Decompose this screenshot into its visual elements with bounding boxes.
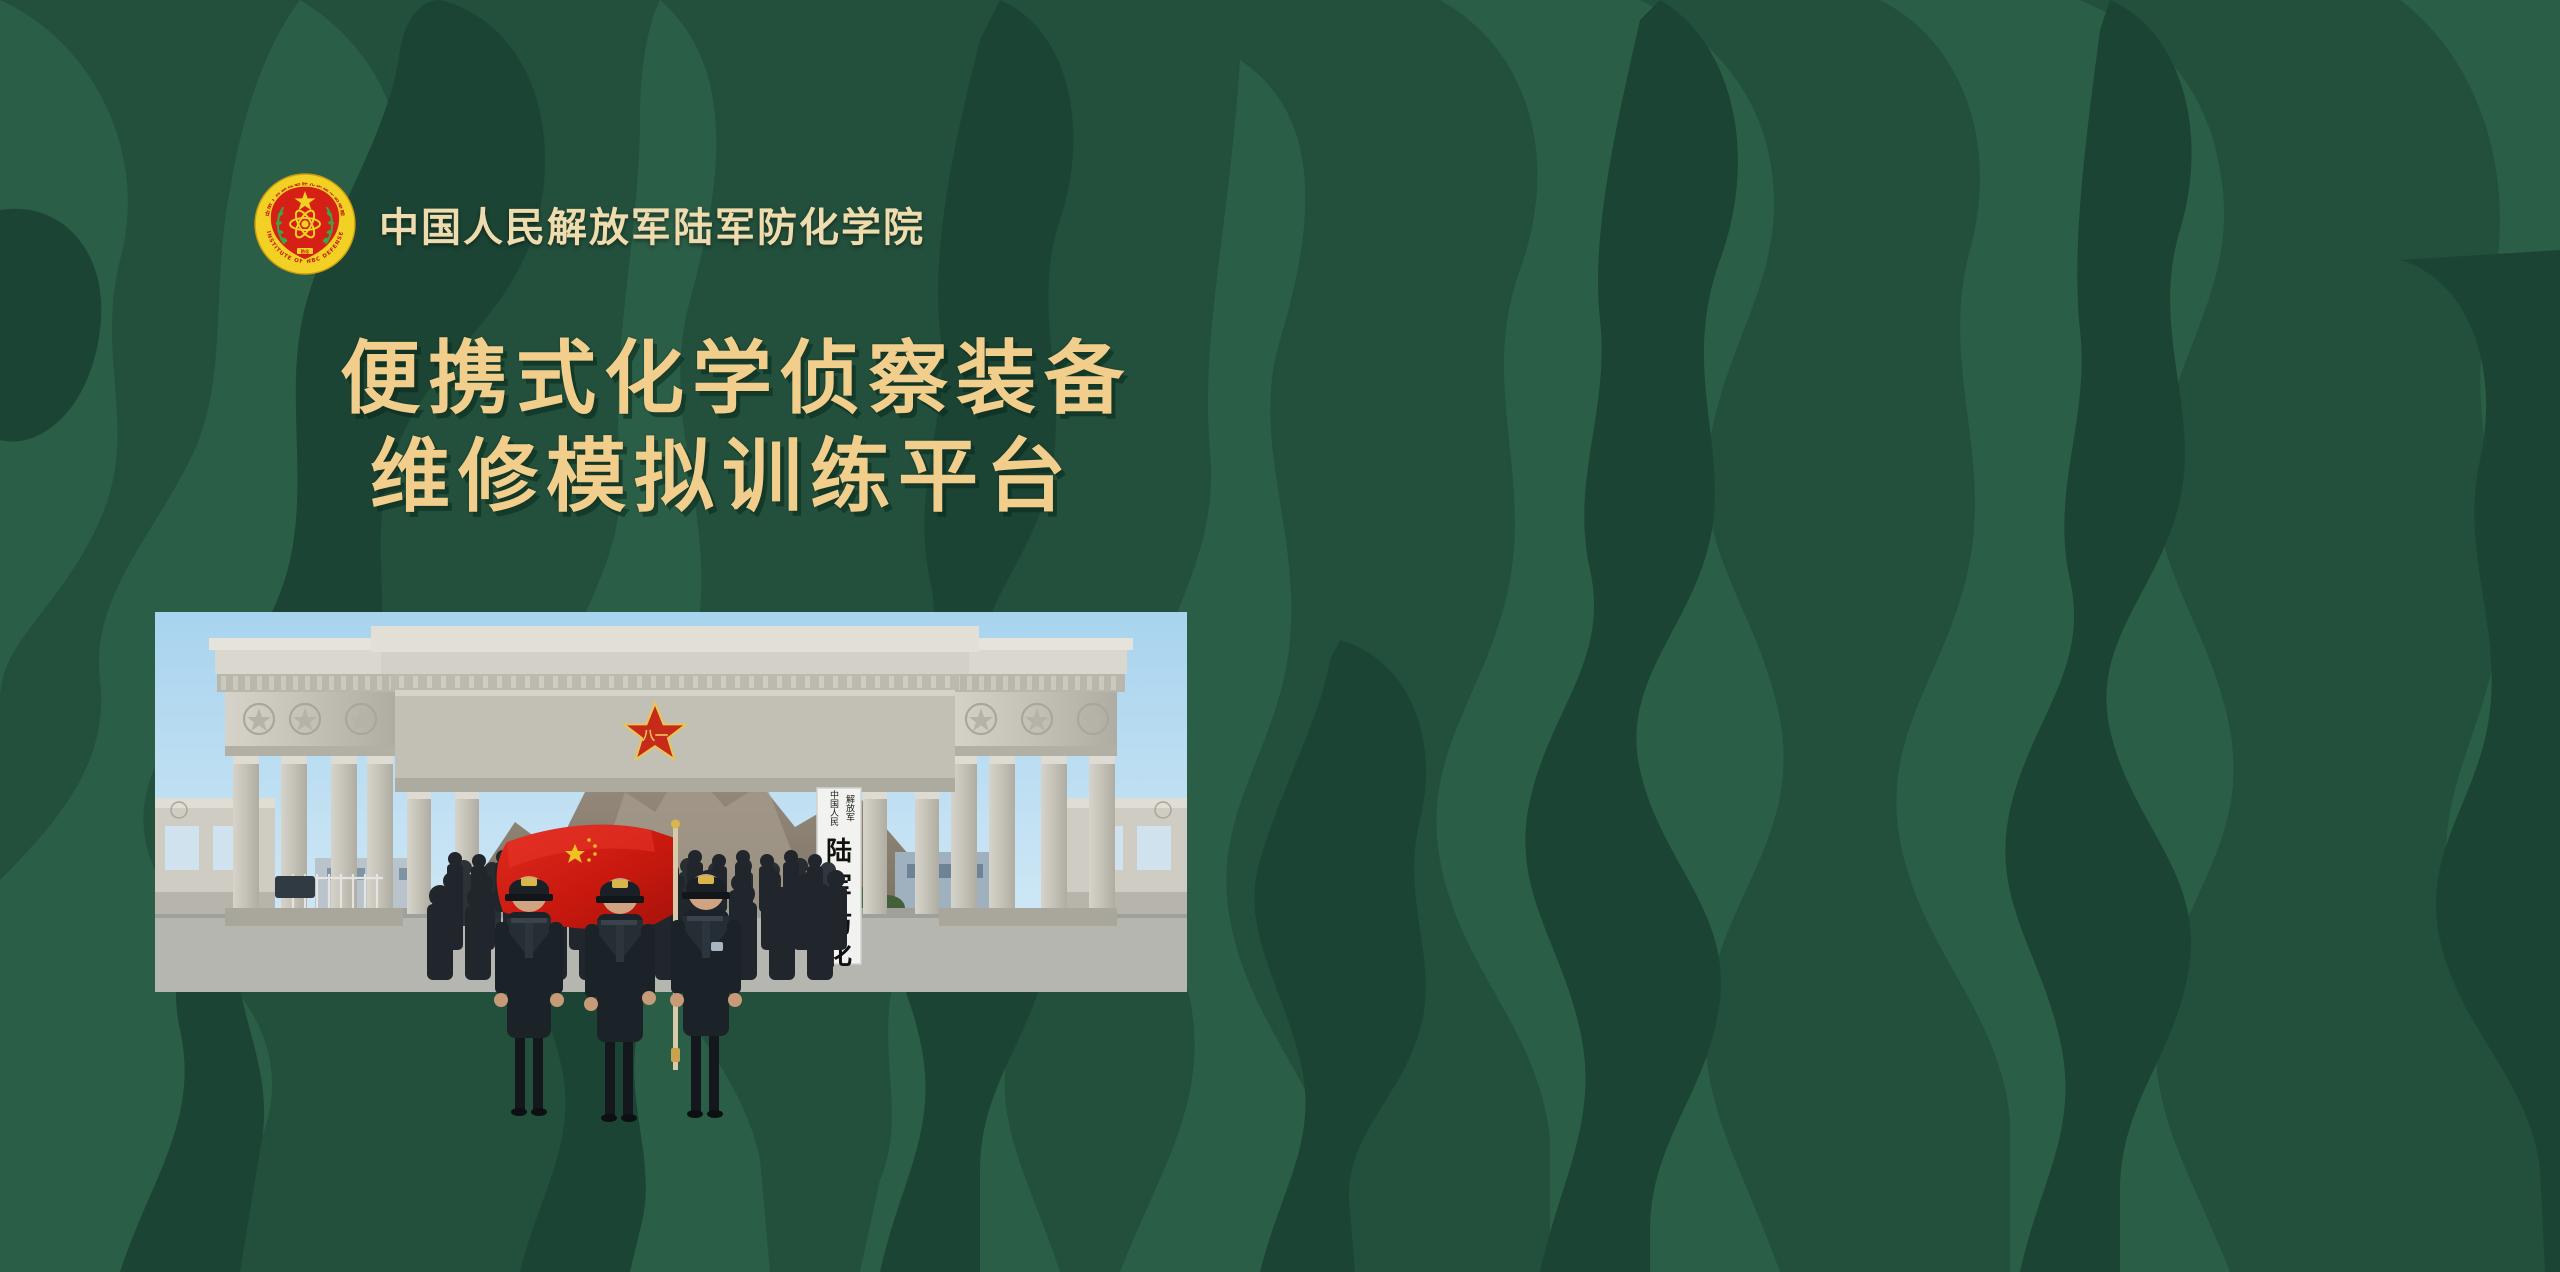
academy-gate-illustration: 八一 中国人民 解放军 [155, 612, 1187, 1172]
sign-small-line-2: 解放军 [844, 793, 855, 822]
parked-vehicle [275, 876, 315, 898]
academy-gate-photo: 八一 中国人民 解放军 [155, 612, 1187, 1172]
institution-name-text: 中国人民解放军陆军防化学院 [379, 195, 925, 253]
soldier-formation-front [494, 874, 742, 1122]
platform-title-line-1: 便携式化学侦察装备 [340, 330, 1132, 428]
platform-title-line-2: 维修模拟训练平台 [340, 428, 1132, 526]
platform-title: 便携式化学侦察装备 维修模拟训练平台 [340, 330, 1132, 525]
gate-central-entablature: 八一 [371, 626, 979, 792]
institute-emblem-icon: 中国人民解放军防化指挥工程学院 INSTITUTE OF NBC DEFENSE [253, 172, 357, 276]
brand-header: 中国人民解放军防化指挥工程学院 INSTITUTE OF NBC DEFENSE [253, 172, 925, 276]
sign-small-line-1: 中国人民 [828, 789, 839, 827]
svg-text:八一: 八一 [641, 729, 668, 744]
svg-text:防化: 防化 [301, 248, 310, 255]
